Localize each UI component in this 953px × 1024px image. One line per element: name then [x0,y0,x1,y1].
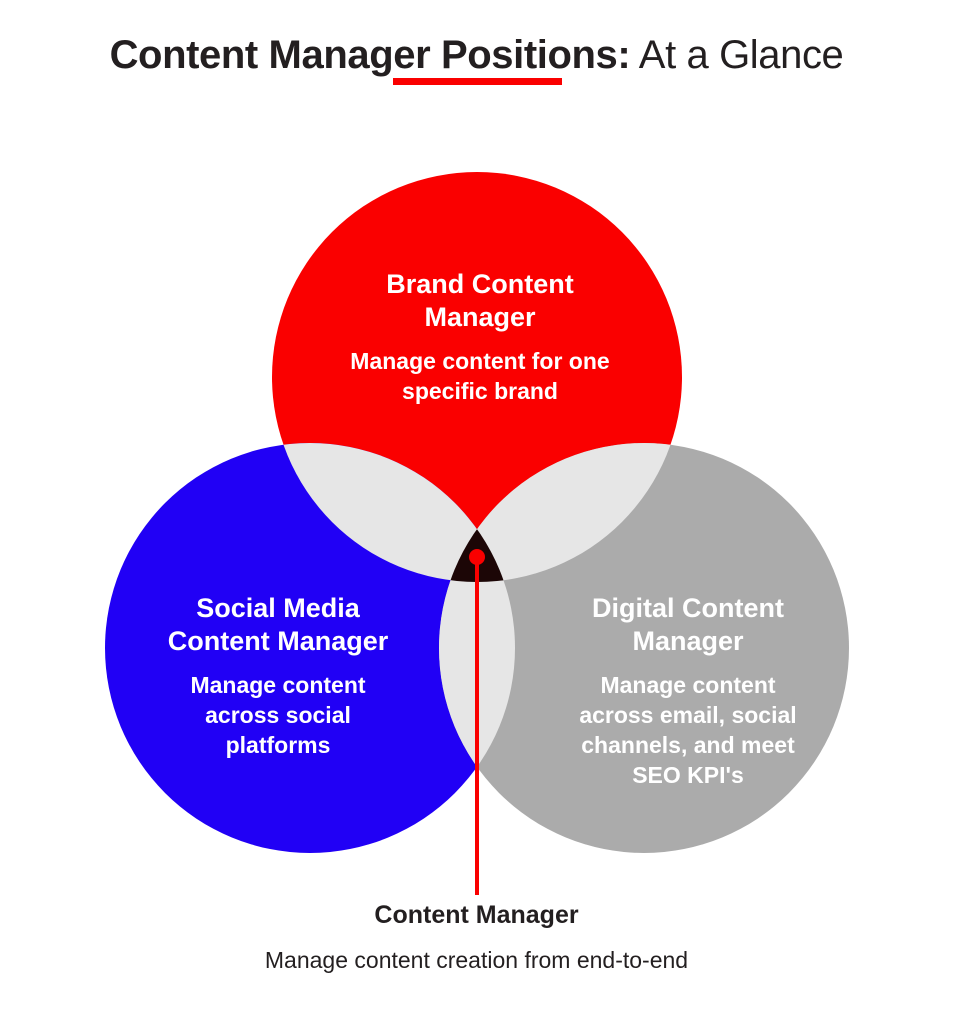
center-marker-dot [469,549,485,565]
venn-label-brand-title: Brand Content Manager [296,268,664,334]
venn-label-digital-description: Manage content across email, social chan… [528,670,848,790]
infographic-page: Content Manager Positions: At a Glance [0,0,953,1024]
venn-label-brand-description: Manage content for one specific brand [296,346,664,406]
center-overlap-description: Manage content creation from end-to-end [0,946,953,974]
center-overlap-caption: Content Manager Manage content creation … [0,900,953,974]
venn-diagram [0,0,953,1024]
venn-label-social-description: Manage content across social platforms [122,670,434,760]
venn-label-digital-title: Digital Content Manager [528,592,848,658]
venn-label-digital: Digital Content Manager Manage content a… [528,592,848,790]
venn-label-social: Social Media Content Manager Manage cont… [122,592,434,760]
center-overlap-title: Content Manager [0,900,953,930]
venn-label-brand: Brand Content Manager Manage content for… [296,268,664,406]
venn-svg [0,0,953,1024]
venn-label-social-title: Social Media Content Manager [122,592,434,658]
